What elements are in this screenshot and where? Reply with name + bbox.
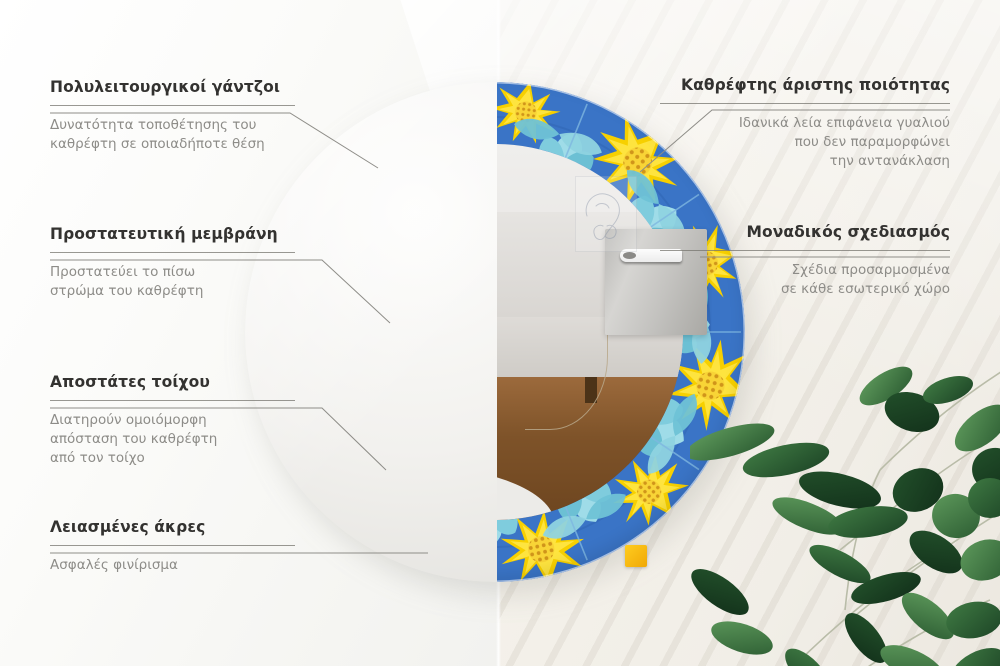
callout-rule	[50, 545, 295, 546]
callout-unique-design: Μοναδικός σχεδιασμός Σχέδια προσαρμοσμέν…	[660, 223, 950, 299]
callout-description: Προστατεύει το πίσω στρώμα του καθρέφτη	[50, 263, 295, 301]
callout-description: Σχέδια προσαρμοσμένα σε κάθε εσωτερικό χ…	[660, 261, 950, 299]
callout-top-quality-mirror: Καθρέφτης άριστης ποιότητας Ιδανικά λεία…	[660, 76, 950, 171]
callout-rule	[50, 252, 295, 253]
callout-description: Διατηρούν ομοιόμορφη απόσταση του καθρέφ…	[50, 411, 295, 468]
callout-smoothed-edges: Λειασμένες άκρες Ασφαλές φινίρισμα	[50, 518, 295, 575]
callout-title: Μοναδικός σχεδιασμός	[660, 223, 950, 241]
callout-rule	[660, 103, 950, 104]
callout-description: Ασφαλές φινίρισμα	[50, 556, 295, 575]
callout-title: Προστατευτική μεμβράνη	[50, 225, 295, 243]
callout-title: Λειασμένες άκρες	[50, 518, 295, 536]
callout-wall-spacers: Αποστάτες τοίχου Διατηρούν ομοιόμορφη απ…	[50, 373, 295, 468]
callout-description: Δυνατότητα τοποθέτησης του καθρέφτη σε ο…	[50, 116, 295, 154]
wall-spacer-pad	[625, 545, 647, 567]
callout-rule	[50, 105, 295, 106]
callout-rule	[660, 250, 950, 251]
callout-title: Πολυλειτουργικοί γάντζοι	[50, 78, 295, 96]
callout-rule	[50, 400, 295, 401]
product-infographic: Πολυλειτουργικοί γάντζοι Δυνατότητα τοπο…	[0, 0, 1000, 666]
callout-multifunctional-hooks: Πολυλειτουργικοί γάντζοι Δυνατότητα τοπο…	[50, 78, 295, 154]
callout-description: Ιδανικά λεία επιφάνεια γυαλιού που δεν π…	[660, 114, 950, 171]
callout-title: Αποστάτες τοίχου	[50, 373, 295, 391]
line-art-watermark-icon	[575, 176, 637, 252]
callout-title: Καθρέφτης άριστης ποιότητας	[660, 76, 950, 94]
callout-protective-membrane: Προστατευτική μεμβράνη Προστατεύει το πί…	[50, 225, 295, 301]
plant-foliage-icon	[690, 320, 1000, 666]
